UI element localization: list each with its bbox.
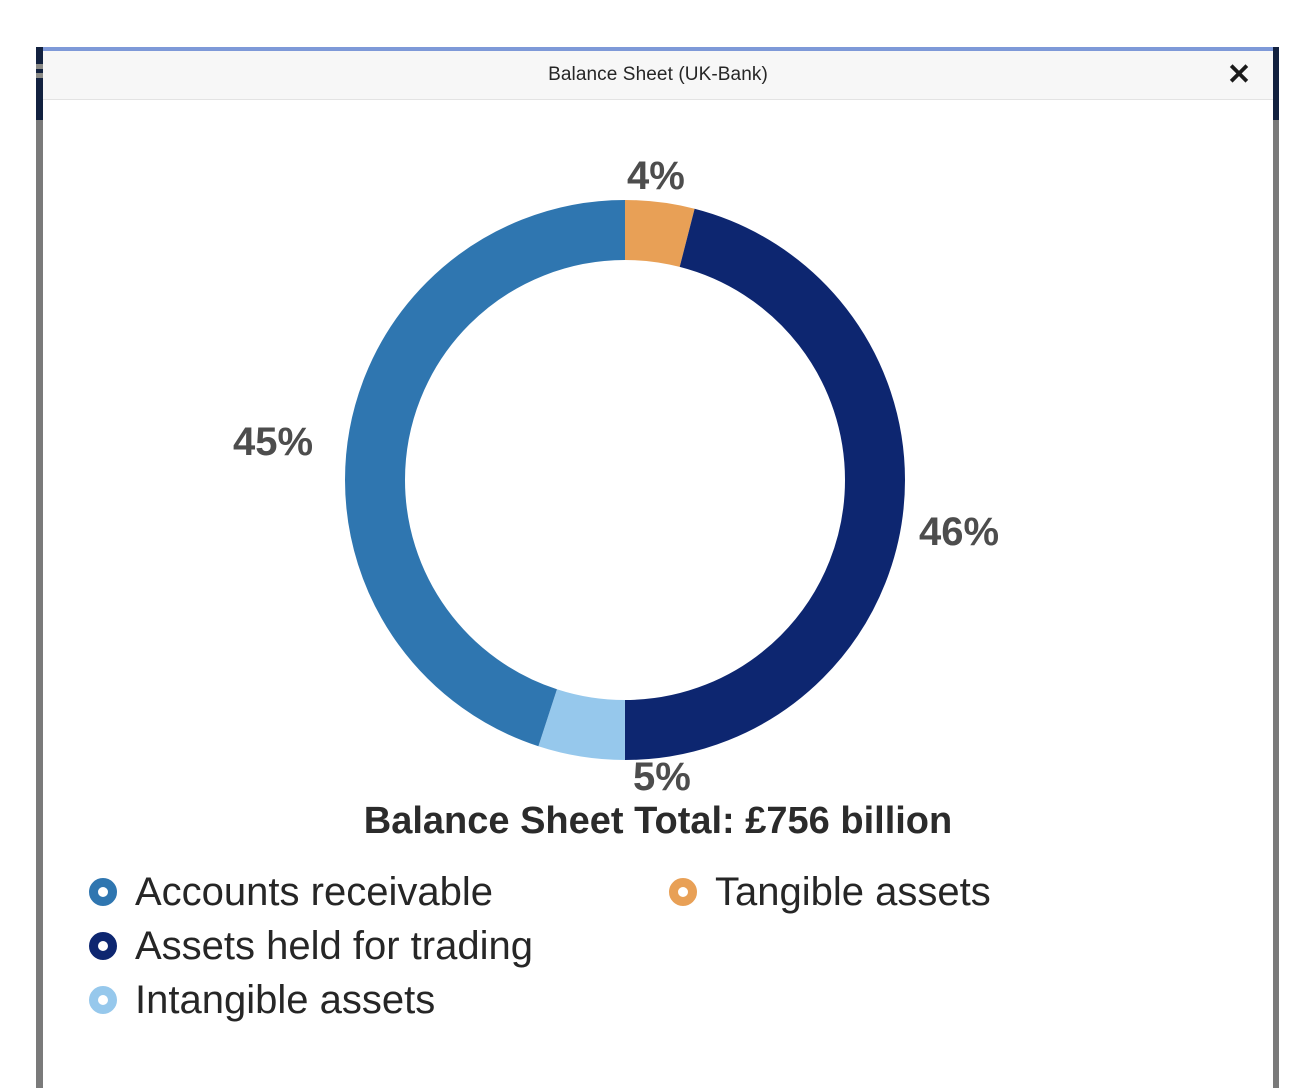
legend-label: Assets held for trading bbox=[135, 926, 533, 966]
background-app-left-stripes bbox=[36, 62, 43, 96]
donut-chart: 4% 46% 45% 5% bbox=[43, 100, 1273, 720]
dialog-title: Balance Sheet (UK-Bank) bbox=[548, 64, 768, 86]
donut-svg bbox=[345, 200, 905, 760]
legend-row: Intangible assets bbox=[89, 973, 1249, 1027]
legend-item-intangible-assets[interactable]: Intangible assets bbox=[89, 980, 669, 1020]
balance-sheet-total-caption: Balance Sheet Total: £756 billion bbox=[43, 800, 1273, 843]
legend-row: Accounts receivable Tangible assets bbox=[89, 865, 1249, 919]
legend-ring-icon bbox=[89, 932, 117, 960]
chart-legend: Accounts receivable Tangible assets Asse… bbox=[89, 865, 1249, 1027]
legend-label: Intangible assets bbox=[135, 980, 435, 1020]
segment-value-label-intangible-assets: 5% bbox=[633, 755, 691, 800]
screen: Balance Sheet (UK-Bank) ✕ bbox=[0, 0, 1316, 1088]
dialog-titlebar: Balance Sheet (UK-Bank) ✕ bbox=[43, 51, 1273, 100]
segment-value-label-tangible-assets: 4% bbox=[627, 154, 685, 199]
legend-label: Tangible assets bbox=[715, 872, 991, 912]
close-icon[interactable]: ✕ bbox=[1219, 55, 1259, 95]
segment-value-label-accounts-receivable: 45% bbox=[233, 420, 313, 465]
legend-ring-icon bbox=[89, 986, 117, 1014]
background-app-left-edge bbox=[36, 47, 43, 1088]
legend-item-tangible-assets[interactable]: Tangible assets bbox=[669, 872, 991, 912]
legend-ring-icon bbox=[669, 878, 697, 906]
chart-area: 4% 46% 45% 5% Balance Sheet Total: £756 … bbox=[43, 100, 1273, 1088]
balance-sheet-dialog: Balance Sheet (UK-Bank) ✕ bbox=[43, 47, 1273, 1088]
legend-ring-icon bbox=[89, 878, 117, 906]
legend-item-assets-held-for-trading[interactable]: Assets held for trading bbox=[89, 926, 669, 966]
legend-row: Assets held for trading bbox=[89, 919, 1249, 973]
segment-value-label-assets-held-for-trading: 46% bbox=[919, 510, 999, 555]
background-app-right-edge bbox=[1273, 47, 1279, 1088]
background-app-right-header bbox=[1273, 47, 1279, 120]
legend-item-accounts-receivable[interactable]: Accounts receivable bbox=[89, 872, 669, 912]
legend-label: Accounts receivable bbox=[135, 872, 493, 912]
